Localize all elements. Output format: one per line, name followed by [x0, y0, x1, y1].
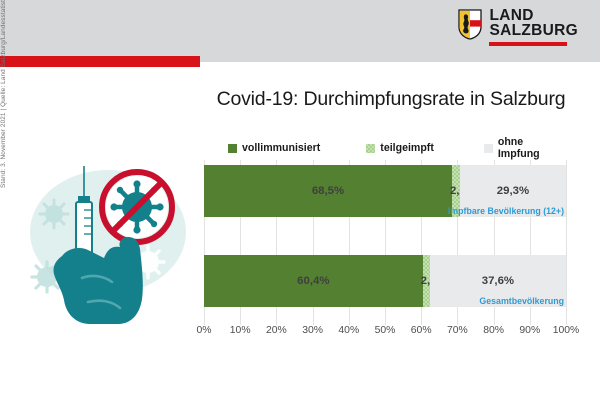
legend-label-teilgeimpft: teilgeimpft — [380, 142, 434, 154]
legend-label-vollimmunisiert: vollimmunisiert — [242, 142, 320, 154]
x-axis: 0%10%20%30%40%50%60%70%80%90%100% — [204, 325, 566, 345]
bar-value-ohne-impfung: 37,6% — [430, 275, 566, 287]
bar-value-teilgeimpft: 2,0% — [421, 275, 428, 287]
bar-segment-teilgeimpft: 2,0% — [423, 255, 430, 307]
x-axis-tick-label: 80% — [474, 325, 514, 336]
legend-swatch-ohne-impfung — [484, 144, 493, 153]
legend-item-ohne-impfung[interactable]: ohne Impfung — [484, 136, 566, 160]
x-axis-tick-label: 20% — [256, 325, 296, 336]
x-axis-tick-label: 40% — [329, 325, 369, 336]
bar-value-vollimmunisiert: 60,4% — [204, 275, 423, 287]
x-axis-tick-label: 0% — [184, 325, 224, 336]
chart-legend: vollimmunisiert teilgeimpft ohne Impfung — [204, 140, 566, 156]
vaccination-illustration — [22, 152, 198, 324]
x-axis-tick-label: 30% — [293, 325, 333, 336]
x-axis-tick-label: 100% — [546, 325, 586, 336]
bar-value-teilgeimpft: 2,2% — [450, 185, 458, 197]
legend-item-teilgeimpft[interactable]: teilgeimpft — [366, 142, 434, 154]
header-accent-bar — [0, 56, 200, 67]
legend-swatch-vollimmunisiert — [228, 144, 237, 153]
legend-swatch-teilgeimpft — [366, 144, 375, 153]
bar-value-vollimmunisiert: 68,5% — [204, 185, 452, 197]
x-axis-tick-label: 90% — [510, 325, 550, 336]
logo-underline — [489, 42, 567, 46]
no-virus-icon — [102, 172, 172, 242]
legend-item-vollimmunisiert[interactable]: vollimmunisiert — [228, 142, 320, 154]
salzburg-coat-of-arms-icon — [458, 9, 482, 40]
x-axis-tick-label: 50% — [365, 325, 405, 336]
category-label-impfbare-bevoelkerung: Impfbare Bevölkerung (12+) — [448, 206, 564, 216]
category-label-gesamtbevoelkerung: Gesamtbevölkerung — [479, 296, 564, 306]
stacked-bar-chart: 68,5% 2,2% 29,3% 60,4% 2,0% 37,6% Impfba… — [204, 160, 566, 325]
source-credit: Stand: 3. November 2021 | Quelle: Land S… — [0, 0, 14, 188]
x-axis-tick-label: 60% — [401, 325, 441, 336]
bar-segment-vollimmunisiert: 68,5% — [204, 165, 452, 217]
bar-segment-vollimmunisiert: 60,4% — [204, 255, 423, 307]
page-header: LAND SALZBURG — [0, 0, 600, 62]
x-axis-tick-label: 70% — [437, 325, 477, 336]
chart-title: Covid-19: Durchimpfungsrate in Salzburg — [200, 88, 582, 111]
bar-value-ohne-impfung: 29,3% — [460, 185, 566, 197]
legend-label-ohne-impfung: ohne Impfung — [498, 136, 566, 160]
logo-line-salzburg: SALZBURG — [489, 24, 578, 39]
gridline — [566, 160, 567, 325]
land-salzburg-logo: LAND SALZBURG — [458, 9, 578, 46]
x-axis-tick-label: 10% — [220, 325, 260, 336]
